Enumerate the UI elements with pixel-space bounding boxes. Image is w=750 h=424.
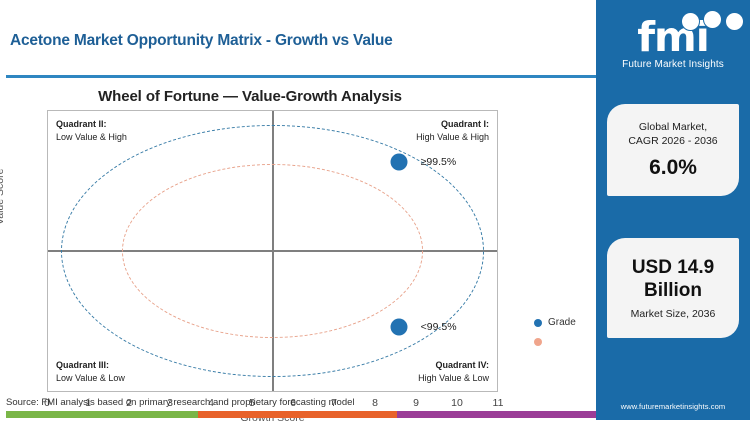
quadrant-3-desc: Low Value & Low [56, 373, 125, 383]
data-point-grade-low[interactable] [391, 319, 408, 336]
legend-item-secondary[interactable] [534, 332, 576, 351]
logo-bubbles-icon [681, 10, 743, 30]
quadrant-label-1: Quadrant I: High Value & High [416, 118, 489, 143]
market-size-card: USD 14.9 Billion Market Size, 2036 [607, 238, 739, 338]
quadrant-2-desc: Low Value & High [56, 132, 127, 142]
bubble-icon-1 [681, 12, 700, 31]
market-size-value-line2: Billion [644, 279, 702, 302]
quadrant-label-3: Quadrant III: Low Value & Low [56, 359, 125, 384]
cagr-value: 6.0% [649, 156, 697, 180]
cagr-caption-line2: CAGR 2026 - 2036 [628, 134, 717, 148]
quadrant-3-title: Quadrant III: [56, 359, 125, 372]
fmi-logo: fmi Future Market Insights [606, 4, 740, 84]
x-tick-10: 10 [451, 397, 463, 409]
content-panel: Acetone Market Opportunity Matrix - Grow… [0, 0, 596, 420]
page-title: Acetone Market Opportunity Matrix - Grow… [10, 32, 393, 50]
plot-area: Quadrant II: Low Value & High Quadrant I… [47, 110, 498, 392]
colorbar-segment-orange [198, 411, 397, 418]
quadrant-4-title: Quadrant IV: [418, 359, 489, 372]
colorbar-segment-green [6, 411, 198, 418]
footer-colorbar [6, 411, 596, 418]
cagr-card: Global Market, CAGR 2026 - 2036 6.0% [607, 104, 739, 196]
chart-legend: Grade [534, 313, 576, 351]
legend-item-grade[interactable]: Grade [534, 313, 576, 332]
cagr-caption-line1: Global Market, [639, 120, 707, 134]
legend-dot-icon-secondary [534, 338, 542, 346]
infographic-root: Acetone Market Opportunity Matrix - Grow… [0, 0, 750, 420]
legend-label-grade: Grade [548, 317, 576, 328]
inner-boundary-ellipse [122, 164, 423, 338]
x-tick-8: 8 [372, 397, 378, 409]
data-point-grade-high[interactable] [391, 153, 408, 170]
quadrant-label-4: Quadrant IV: High Value & Low [418, 359, 489, 384]
quadrant-1-desc: High Value & High [416, 132, 489, 142]
chart-container: Wheel of Fortune — Value-Growth Analysis… [0, 80, 596, 395]
market-size-value-line1: USD 14.9 [632, 256, 714, 279]
colorbar-segment-purple [397, 411, 596, 418]
legend-dot-icon-grade [534, 319, 542, 327]
x-tick-11: 11 [493, 397, 504, 409]
quadrant-label-2: Quadrant II: Low Value & High [56, 118, 127, 143]
quadrant-2-title: Quadrant II: [56, 118, 127, 131]
quadrant-1-title: Quadrant I: [416, 118, 489, 131]
chart-title: Wheel of Fortune — Value-Growth Analysis [0, 88, 500, 105]
bubble-icon-3 [725, 12, 744, 31]
market-size-caption: Market Size, 2036 [631, 308, 716, 320]
bubble-icon-2 [703, 10, 722, 29]
y-axis-label: Value Score [0, 169, 6, 225]
brand-sidebar: fmi Future Market Insights Global Market… [596, 0, 750, 420]
x-tick-9: 9 [413, 397, 419, 409]
quadrant-4-desc: High Value & Low [418, 373, 489, 383]
website-url[interactable]: www.futuremarketinsights.com [596, 402, 750, 411]
data-point-label-low: <99.5% [421, 321, 457, 333]
title-divider [6, 75, 596, 78]
data-point-label-high: ≥99.5% [421, 156, 457, 168]
fmi-wordmark: fmi [637, 19, 709, 55]
source-note: Source: FMI analysis based on primary re… [6, 397, 355, 408]
title-bar: Acetone Market Opportunity Matrix - Grow… [0, 0, 596, 76]
